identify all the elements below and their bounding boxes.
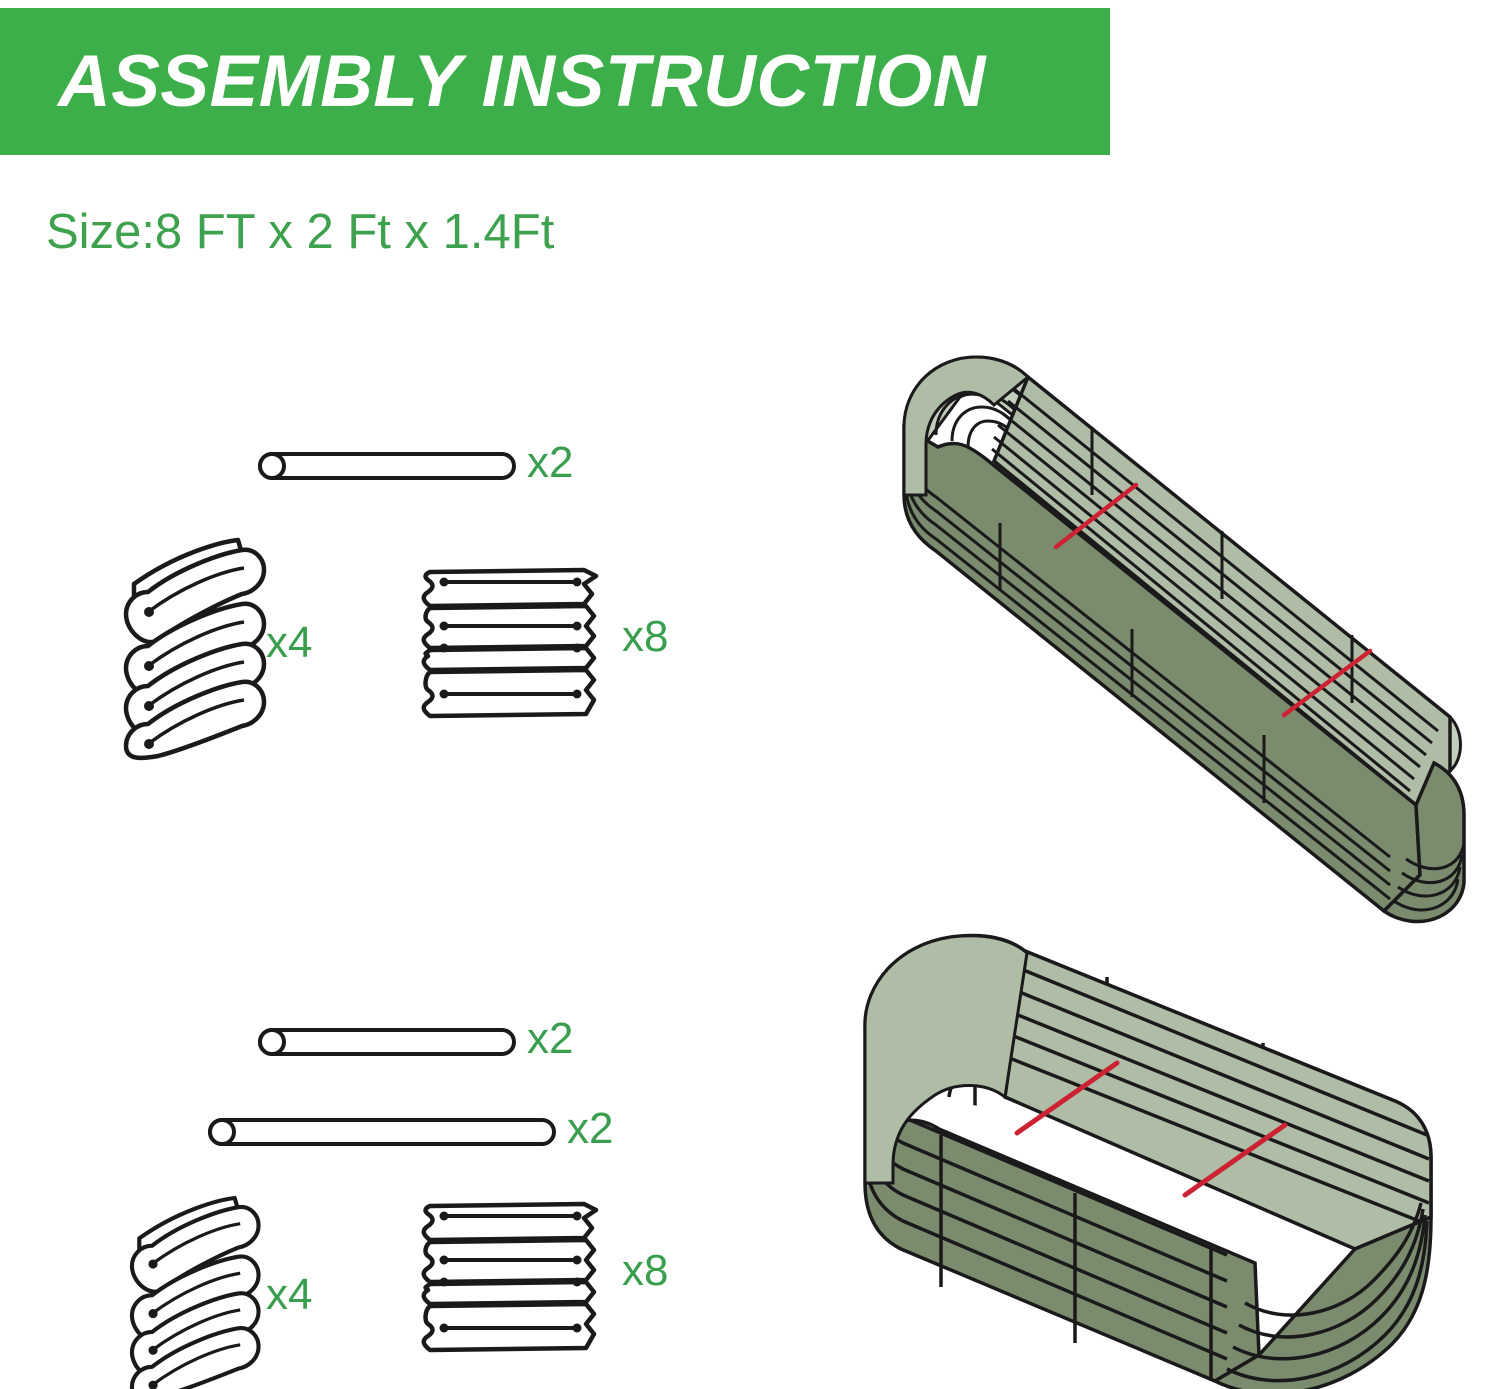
part-rod-short-top: x2 — [255, 448, 515, 484]
raised-garden-bed-long-oval-diagram — [860, 335, 1500, 895]
header-banner: ASSEMBLY INSTRUCTION — [0, 8, 1110, 155]
raised-garden-bed-short-rectangular-diagram — [835, 915, 1500, 1385]
assembly-instruction-page: ASSEMBLY INSTRUCTION Size:8 FT x 2 Ft x … — [0, 0, 1500, 1389]
curved-corner-panel-stack-icon — [118, 540, 278, 758]
size-specification-text: Size:8 FT x 2 Ft x 1.4Ft — [46, 204, 554, 260]
qty-label-rod-short-top: x2 — [527, 438, 573, 488]
flat-corrugated-panel-stack-icon — [424, 562, 604, 730]
qty-label-rod-short-bottom: x2 — [527, 1014, 573, 1064]
qty-label-curved-panel-bottom: x4 — [266, 1270, 312, 1320]
rod-icon — [255, 448, 515, 484]
part-rod-long-bottom: x2 — [205, 1114, 555, 1150]
qty-label-rod-long-bottom: x2 — [567, 1104, 613, 1154]
curved-corner-panel-stack-icon — [118, 1198, 278, 1389]
part-curved-panel-stack-bottom: x4 — [118, 1198, 278, 1389]
rod-icon — [255, 1024, 515, 1060]
part-flat-panel-stack-bottom: x8 — [424, 1196, 604, 1364]
rod-icon — [205, 1114, 555, 1150]
part-rod-short-bottom: x2 — [255, 1024, 515, 1060]
qty-label-curved-panel-top: x4 — [266, 618, 312, 668]
flat-corrugated-panel-stack-icon — [424, 1196, 604, 1364]
part-flat-panel-stack-top: x8 — [424, 562, 604, 730]
page-title: ASSEMBLY INSTRUCTION — [0, 40, 986, 123]
long-oval-bed-icon — [860, 335, 1500, 895]
short-rect-bed-icon — [835, 915, 1500, 1385]
qty-label-flat-panel-bottom: x8 — [622, 1246, 668, 1296]
qty-label-flat-panel-top: x8 — [622, 612, 668, 662]
part-curved-panel-stack-top: x4 — [118, 540, 278, 758]
